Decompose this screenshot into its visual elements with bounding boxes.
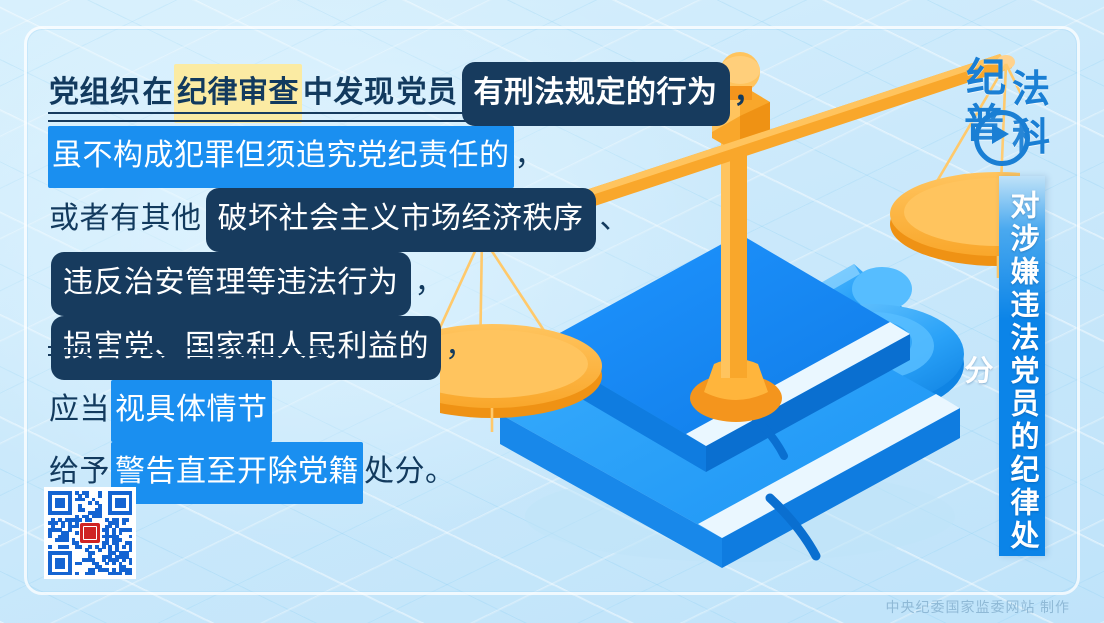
copy-line-7: 给予警告直至开除党籍处分。 (48, 442, 708, 504)
line3-seg-1-pill: 破坏社会主义市场经济秩序 (206, 188, 596, 252)
line7-seg-2: 处分。 (363, 445, 457, 499)
line1-double-underline (48, 112, 624, 122)
copy-line-2: 虽不构成犯罪但须追究党纪责任的， (48, 126, 708, 188)
line3-seg-0: 或者有其他 (48, 192, 203, 246)
copy-line-6: 应当视具体情节 (48, 380, 708, 442)
line6-seg-1-highlight: 视具体情节 (111, 380, 272, 442)
copy-line-3: 或者有其他破坏社会主义市场经济秩序、 (48, 188, 708, 252)
line4-seg-1: ， (414, 256, 447, 310)
poster-canvas: 党组织在纪律审查中发现党员有刑法规定的行为， 虽不构成犯罪但须追究党纪责任的， … (0, 0, 1104, 623)
copy-line-1: 党组织在纪律审查中发现党员有刑法规定的行为， (48, 62, 708, 126)
vertical-title-banner: 对涉嫌违法党员的纪律处分 (999, 176, 1045, 556)
qr-code[interactable] (44, 487, 136, 579)
line7-seg-1-highlight: 警告直至开除党籍 (111, 442, 363, 504)
play-triangle-icon (992, 124, 1009, 144)
logo-char-2: 法 (1012, 70, 1050, 110)
line3-seg-2: 、 (599, 192, 632, 246)
line3-double-underline (48, 346, 328, 356)
line2-seg-1: ， (514, 129, 547, 183)
vertical-title-text: 对涉嫌违法党员的纪律处分 (999, 186, 1045, 556)
line6-seg-0: 应当 (48, 383, 111, 437)
copy-line-4: 违反治安管理等违法行为， (48, 252, 708, 316)
main-copy: 党组织在纪律审查中发现党员有刑法规定的行为， 虽不构成犯罪但须追究党纪责任的， … (48, 62, 708, 504)
line2-seg-0-highlight: 虽不构成犯罪但须追究党纪责任的 (48, 126, 514, 188)
credit-text: 中央纪委国家监委网站 制作 (886, 597, 1071, 617)
line1-seg-6: ， (733, 66, 766, 120)
logo-char-1: 纪 (966, 58, 1006, 98)
line5-seg-1: ， (444, 320, 477, 374)
qr-center-logo-icon (80, 523, 100, 543)
line4-seg-0-pill: 违反治安管理等违法行为 (51, 252, 411, 316)
brand-logo[interactable]: 纪 法 科 普 (962, 56, 1070, 166)
